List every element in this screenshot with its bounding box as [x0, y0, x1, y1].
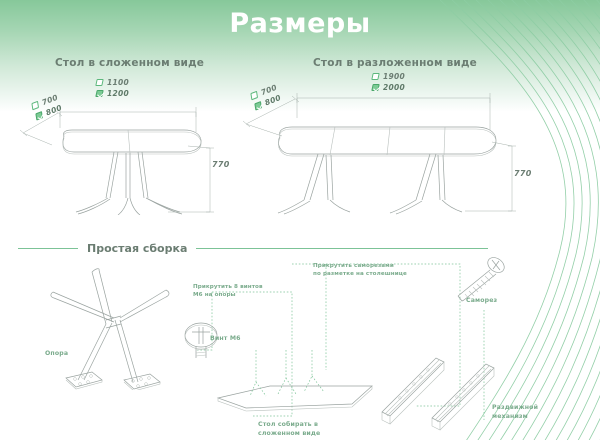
- tabletop-attachment-drawing: [212, 350, 382, 422]
- checkbox-checked[interactable]: [35, 111, 43, 121]
- divider-line-right: [196, 248, 488, 249]
- folded-width-options[interactable]: 1100 1200: [96, 77, 129, 99]
- option-value: 1900: [383, 72, 405, 81]
- annotation-attach-self-tapping: Прикрутить саморезами по разметке на сто…: [313, 262, 407, 278]
- slide-mechanism-drawing: [374, 352, 504, 438]
- unfolded-height-label: 770: [514, 169, 532, 178]
- option-value: 2000: [383, 83, 405, 92]
- part-label-support: Опора: [45, 350, 68, 359]
- checkbox-unchecked[interactable]: [95, 79, 103, 86]
- folded-height-label: 770: [212, 160, 230, 169]
- checkbox-unchecked[interactable]: [250, 91, 258, 101]
- support-leg-drawing: [20, 258, 195, 390]
- section-title-unfolded: Стол в разложенном виде: [313, 57, 477, 69]
- section-title-folded: Стол в сложенном виде: [55, 57, 204, 69]
- option-row: 1900: [372, 71, 405, 82]
- option-value: 1100: [107, 78, 129, 87]
- checkbox-unchecked[interactable]: [371, 73, 379, 80]
- checkbox-checked[interactable]: [371, 84, 379, 91]
- annotation-attach-bolts: Прикрутить 8 винтов М6 на опоры: [193, 283, 263, 299]
- page-title: Размеры: [0, 8, 600, 39]
- assembly-heading: Простая сборка: [78, 242, 196, 255]
- option-row: 1100: [96, 77, 129, 88]
- part-label-self-tapping-screw: Саморез: [466, 297, 497, 306]
- option-row: 2000: [372, 82, 405, 93]
- assembly-section-divider: Простая сборка: [18, 240, 488, 256]
- checkbox-unchecked[interactable]: [31, 101, 39, 111]
- unfolded-width-options[interactable]: 1900 2000: [372, 71, 405, 93]
- divider-line-left: [18, 248, 78, 249]
- self-tapping-screw-drawing: [452, 256, 508, 302]
- part-label-bolt: Винт М6: [210, 335, 241, 344]
- part-label-slide-mechanism: Раздвижной механизм: [492, 404, 538, 422]
- option-row: 1200: [96, 88, 129, 99]
- checkbox-checked[interactable]: [95, 90, 103, 97]
- checkbox-checked[interactable]: [254, 101, 262, 111]
- note-assemble-folded: Стол собирать в сложенном виде: [258, 421, 320, 439]
- dimensions-infographic: Размеры Стол в сложенном виде: [0, 0, 600, 440]
- option-value: 1200: [107, 89, 129, 98]
